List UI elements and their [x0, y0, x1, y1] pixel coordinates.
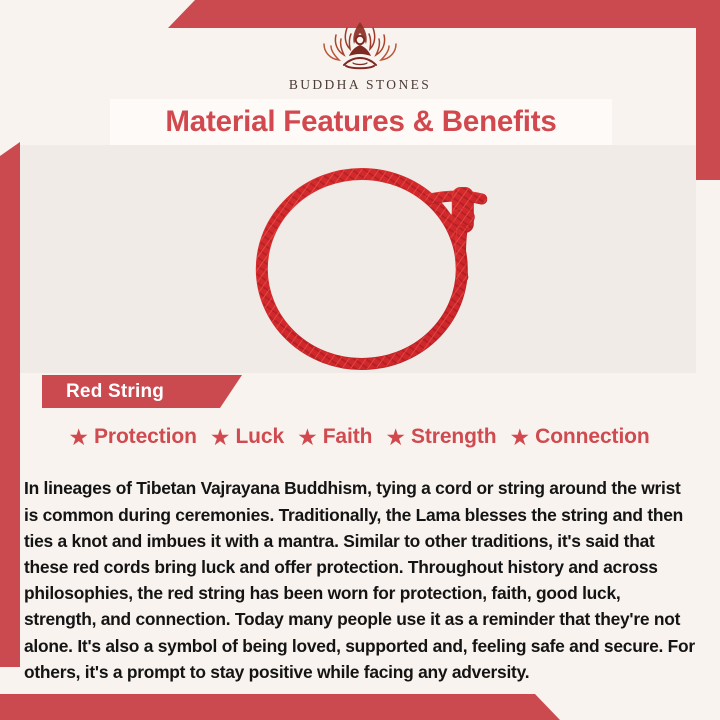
infographic-page: BUDDHA STONES Material Features & Benefi… [0, 0, 720, 720]
brand-name: BUDDHA STONES [289, 77, 431, 93]
lotus-meditation-figure-icon [306, 16, 414, 74]
star-icon: ★ [210, 426, 231, 449]
benefit-item: ★ Strength [385, 425, 496, 449]
decorative-border-bottom [0, 694, 720, 720]
decorative-border-left [0, 142, 20, 667]
description-text: In lineages of Tibetan Vajrayana Buddhis… [24, 475, 696, 685]
benefit-label: Protection [94, 425, 197, 449]
benefit-label: Connection [535, 425, 650, 449]
page-title-banner: Material Features & Benefits [110, 99, 612, 145]
star-icon: ★ [510, 426, 531, 449]
benefit-label: Faith [323, 425, 373, 449]
product-label-banner: Red String [42, 375, 242, 408]
page-title: Material Features & Benefits [165, 105, 556, 139]
red-string-bracelet-illustration [234, 151, 504, 373]
product-image [20, 145, 696, 373]
star-icon: ★ [68, 426, 89, 449]
benefit-item: ★ Luck [210, 425, 284, 449]
brand-logo: BUDDHA STONES [0, 16, 720, 93]
star-icon: ★ [385, 426, 406, 449]
benefit-item: ★ Connection [510, 425, 650, 449]
benefit-item: ★ Faith [297, 425, 372, 449]
benefit-label: Strength [411, 425, 497, 449]
benefit-label: Luck [235, 425, 284, 449]
benefit-item: ★ Protection [68, 425, 196, 449]
star-icon: ★ [297, 426, 318, 449]
product-label: Red String [66, 381, 164, 403]
benefits-list: ★ Protection ★ Luck ★ Faith ★ Strength ★… [20, 420, 698, 454]
